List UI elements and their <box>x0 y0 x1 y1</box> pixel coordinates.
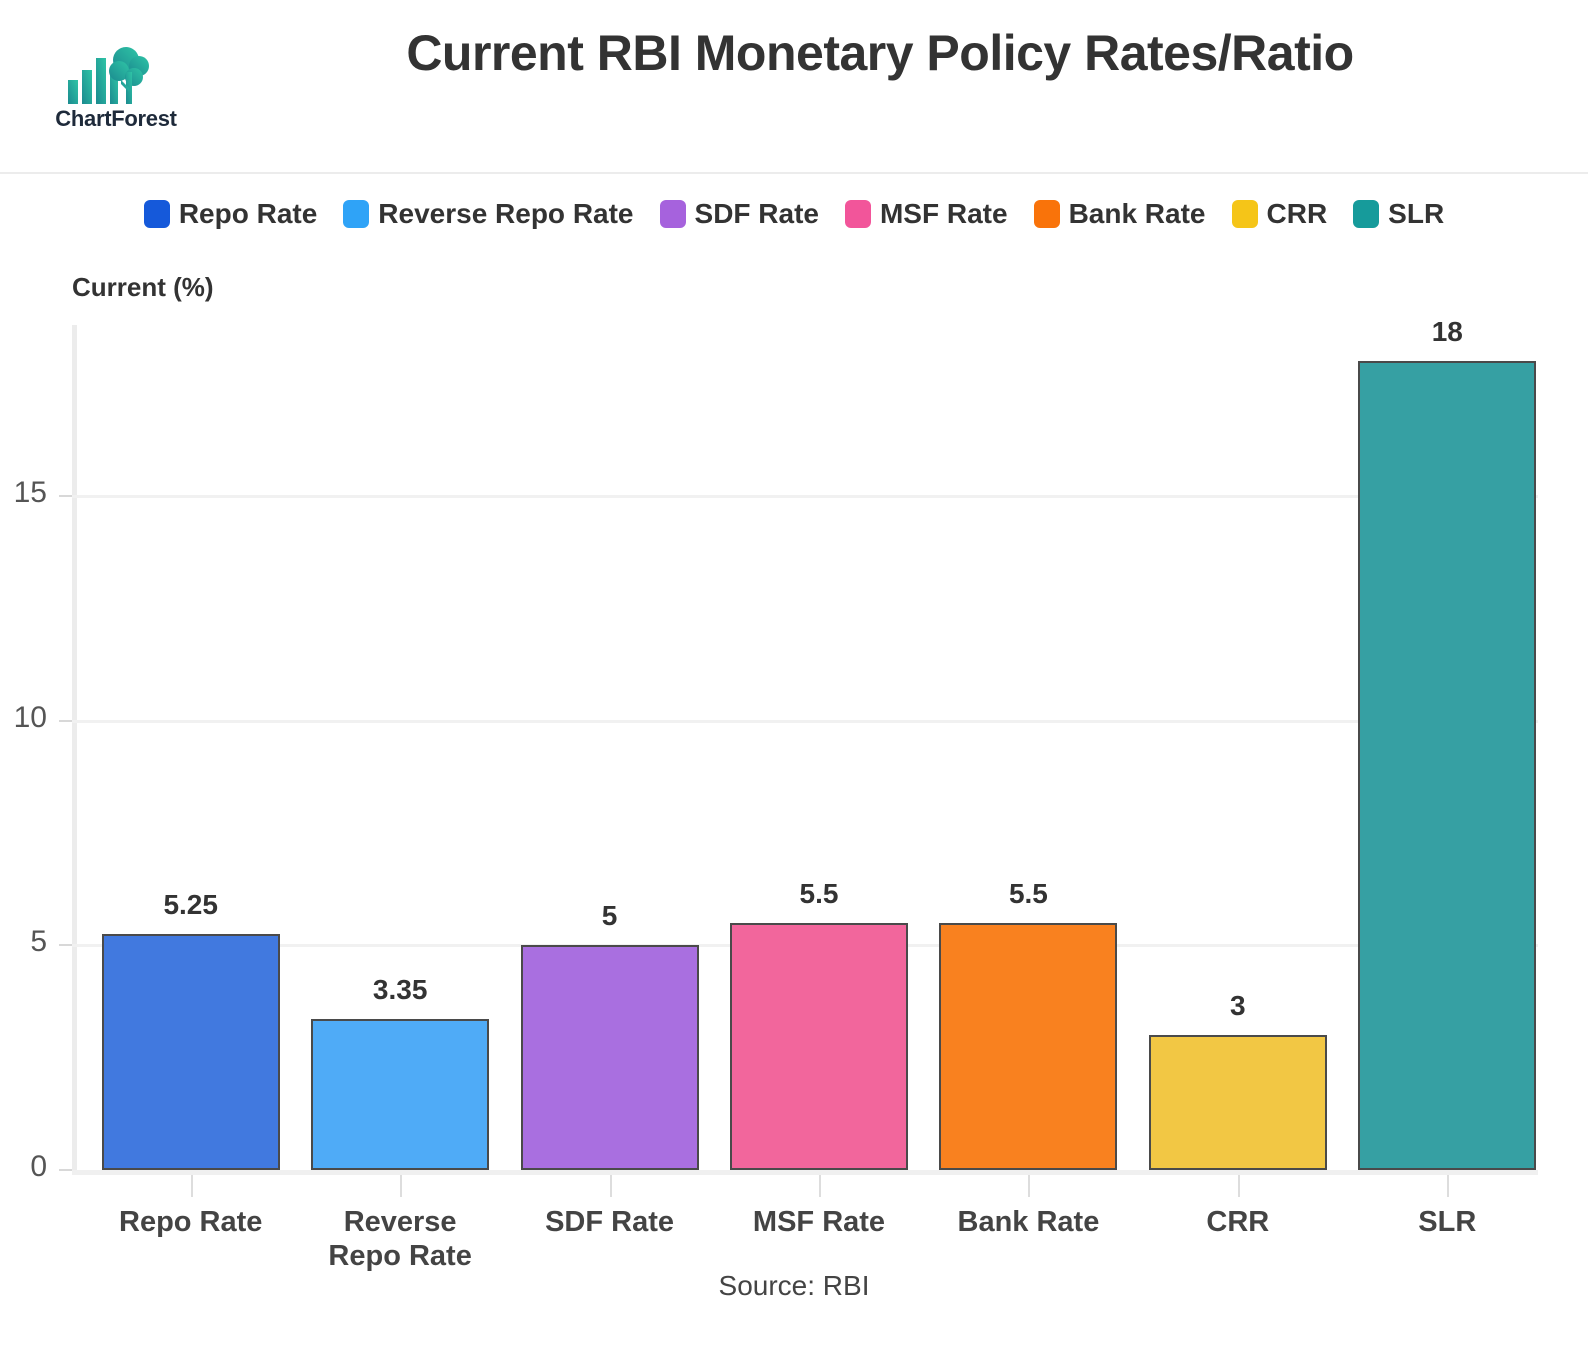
x-tick-mark <box>191 1175 193 1197</box>
legend-item[interactable]: Reverse Repo Rate <box>343 198 633 230</box>
plot-area: 0510155.25Repo Rate3.35ReverseRepo Rate5… <box>72 325 1538 1170</box>
legend-swatch-icon <box>343 200 369 228</box>
y-axis-line <box>72 325 77 1170</box>
y-tick-mark <box>59 720 72 722</box>
bar-sdf-rate[interactable] <box>521 945 699 1170</box>
x-tick-mark <box>610 1175 612 1197</box>
page-title: Current RBI Monetary Policy Rates/Ratio <box>200 24 1560 82</box>
legend-label: MSF Rate <box>880 198 1008 230</box>
bar-msf-rate[interactable] <box>730 923 908 1170</box>
x-tick-mark <box>819 1175 821 1197</box>
legend-label: Reverse Repo Rate <box>378 198 633 230</box>
x-tick-label: Bank Rate <box>924 1205 1133 1239</box>
x-axis-line <box>72 1170 1538 1175</box>
bar-slr[interactable] <box>1358 361 1536 1170</box>
legend-item[interactable]: Bank Rate <box>1034 198 1206 230</box>
y-tick-label: 0 <box>0 1150 47 1184</box>
x-tick-label: CRR <box>1133 1205 1342 1239</box>
legend-swatch-icon <box>1232 200 1258 228</box>
x-tick-label: SDF Rate <box>505 1205 714 1239</box>
y-tick-mark <box>59 1169 72 1171</box>
x-tick-mark <box>1238 1175 1240 1197</box>
bar-value-label: 5.5 <box>730 878 908 910</box>
x-tick-mark <box>1028 1175 1030 1197</box>
x-tick-label: ReverseRepo Rate <box>295 1205 504 1273</box>
bar-value-label: 5 <box>521 900 699 932</box>
legend-label: SLR <box>1388 198 1444 230</box>
bar-value-label: 18 <box>1358 316 1536 348</box>
x-tick-mark <box>1447 1175 1449 1197</box>
y-tick-mark <box>59 495 72 497</box>
gridline <box>72 720 1538 723</box>
legend-swatch-icon <box>660 200 686 228</box>
legend-item[interactable]: Repo Rate <box>144 198 317 230</box>
legend-item[interactable]: CRR <box>1232 198 1328 230</box>
chart-legend[interactable]: Repo RateReverse Repo RateSDF RateMSF Ra… <box>0 198 1588 230</box>
x-tick-label: Repo Rate <box>86 1205 295 1239</box>
legend-item[interactable]: MSF Rate <box>845 198 1008 230</box>
legend-item[interactable]: SDF Rate <box>660 198 819 230</box>
legend-swatch-icon <box>1353 200 1379 228</box>
y-tick-mark <box>59 944 72 946</box>
y-tick-label: 10 <box>0 701 47 735</box>
legend-swatch-icon <box>845 200 871 228</box>
y-tick-label: 15 <box>0 476 47 510</box>
y-tick-label: 5 <box>0 925 47 959</box>
bar-value-label: 3.35 <box>311 974 489 1006</box>
legend-label: Repo Rate <box>179 198 317 230</box>
brand-logo-text: ChartForest <box>46 106 186 132</box>
legend-item[interactable]: SLR <box>1353 198 1444 230</box>
bar-reverse-repo-rate[interactable] <box>311 1019 489 1170</box>
bar-value-label: 3 <box>1149 990 1327 1022</box>
gridline <box>72 495 1538 498</box>
bar-repo-rate[interactable] <box>102 934 280 1170</box>
chart-page: ChartForest Current RBI Monetary Policy … <box>0 0 1588 1346</box>
bar-bank-rate[interactable] <box>939 923 1117 1170</box>
bar-crr[interactable] <box>1149 1035 1327 1170</box>
x-tick-mark <box>400 1175 402 1197</box>
legend-swatch-icon <box>144 200 170 228</box>
y-axis-title: Current (%) <box>72 272 214 303</box>
chart-header: ChartForest Current RBI Monetary Policy … <box>0 0 1588 174</box>
source-caption: Source: RBI <box>0 1270 1588 1302</box>
x-tick-label: SLR <box>1343 1205 1552 1239</box>
bar-value-label: 5.5 <box>939 878 1117 910</box>
legend-label: Bank Rate <box>1069 198 1206 230</box>
x-tick-label: MSF Rate <box>714 1205 923 1239</box>
legend-swatch-icon <box>1034 200 1060 228</box>
brand-logo: ChartForest <box>46 44 186 134</box>
bar-value-label: 5.25 <box>102 889 280 921</box>
legend-label: SDF Rate <box>695 198 819 230</box>
legend-label: CRR <box>1267 198 1328 230</box>
bar-chart-tree-logo-icon <box>64 44 154 106</box>
